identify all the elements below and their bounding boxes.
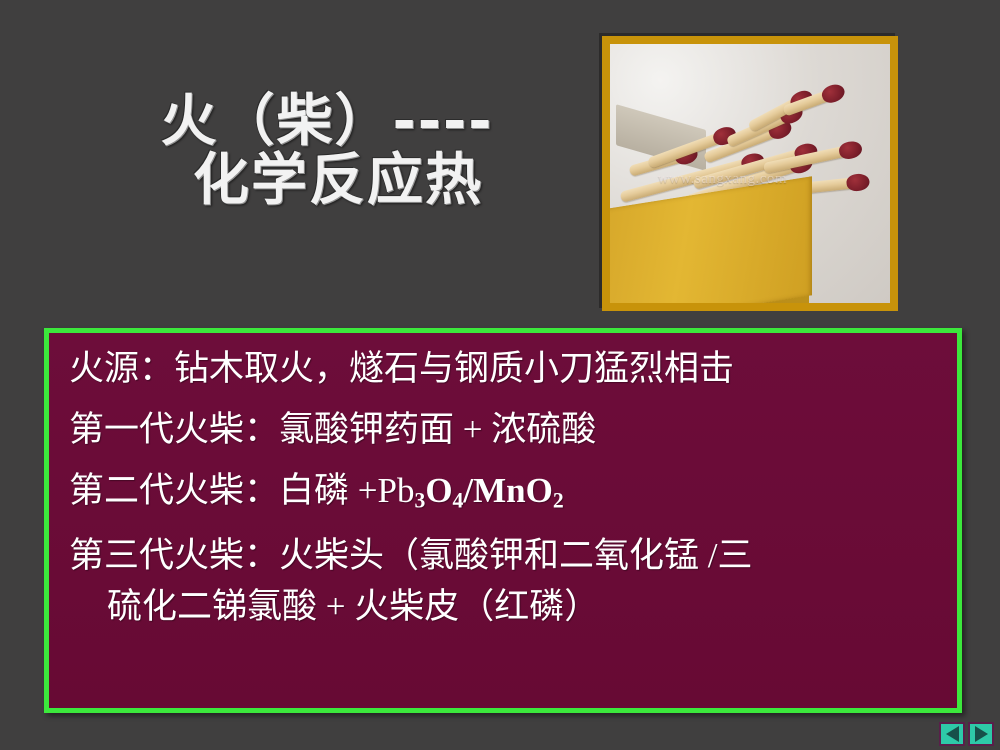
subscript-3: 3: [414, 488, 425, 512]
slide-navigation: [939, 722, 994, 746]
slide-canvas: 火（柴）---- 化学反应热 www.sangxang.com 火源：钻木取火，…: [0, 0, 1000, 750]
content-box: 火源：钻木取火，燧石与钢质小刀猛烈相击 第一代火柴：氯酸钾药面 + 浓硫酸 第二…: [44, 328, 962, 713]
content-line-fire-source: 火源：钻木取火，燧石与钢质小刀猛烈相击: [69, 351, 943, 386]
subscript-2: 2: [553, 488, 564, 512]
title-line-secondary: 化学反应热: [110, 151, 540, 210]
previous-slide-button[interactable]: [939, 722, 965, 746]
subscript-4: 4: [453, 488, 464, 512]
photo-watermark: www.sangxang.com: [658, 171, 788, 188]
third-generation-continuation: 硫化二锑氯酸 + 火柴皮（红磷）: [69, 589, 943, 624]
formula-pb3o4-mno2: 3O4/MnO2: [414, 471, 563, 510]
title-line-primary: 火（柴）----: [110, 92, 540, 151]
content-line-first-generation: 第一代火柴：氯酸钾药面 + 浓硫酸: [69, 412, 943, 447]
next-slide-button[interactable]: [968, 722, 994, 746]
oxygen-symbol: O: [425, 471, 452, 510]
matches-photo-frame: www.sangxang.com: [602, 36, 898, 311]
matches-photo: www.sangxang.com: [610, 44, 890, 303]
second-generation-prefix: 第二代火柴：白磷 +Pb: [69, 471, 414, 510]
content-line-third-generation: 第三代火柴：火柴头（氯酸钾和二氧化锰 /三 硫化二锑氯酸 + 火柴皮（红磷）: [69, 538, 943, 624]
mno-symbol: /MnO: [463, 471, 552, 510]
triangle-right-icon: [975, 726, 988, 742]
page-title: 火（柴）---- 化学反应热: [110, 92, 540, 211]
triangle-left-icon: [946, 726, 959, 742]
content-line-second-generation: 第二代火柴：白磷 +Pb3O4/MnO2: [69, 473, 943, 512]
third-generation-text: 第三代火柴：火柴头（氯酸钾和二氧化锰 /三: [69, 536, 752, 575]
